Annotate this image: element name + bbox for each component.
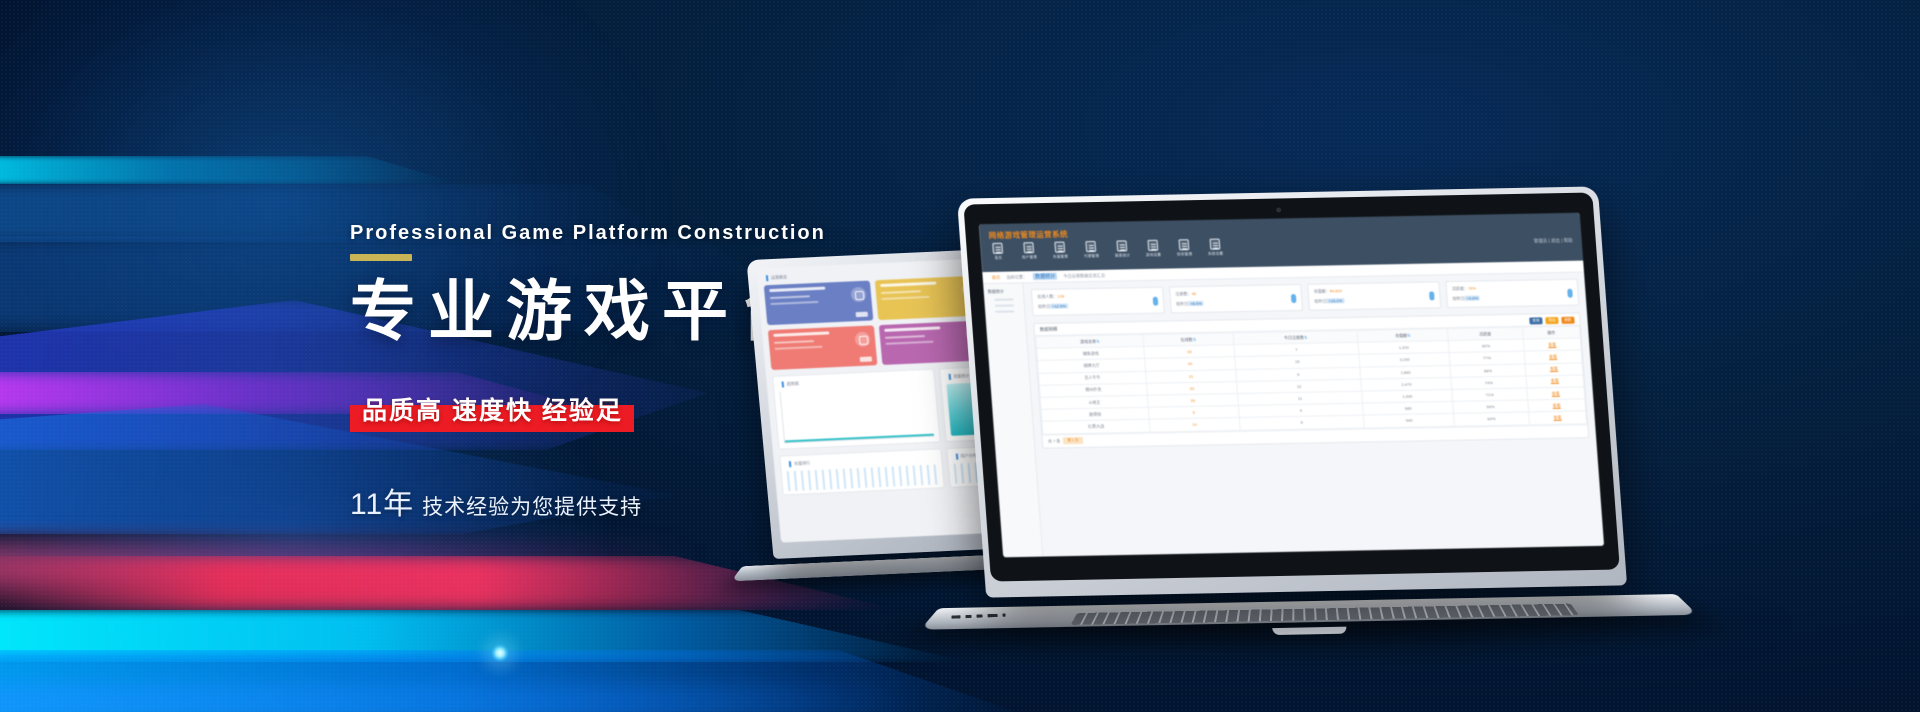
table-cell: 940	[1364, 414, 1455, 428]
front-laptop: 网络游戏管理运营系统 管理员 | 退出 | 帮助 首页	[957, 186, 1627, 597]
stat-title: 注册数：46	[1175, 289, 1296, 297]
card-line-sub	[774, 340, 814, 344]
row-action-link[interactable]: 查看	[1525, 363, 1583, 376]
row-action-link[interactable]: 查看	[1523, 338, 1581, 351]
chart-icon	[1153, 297, 1159, 306]
wallet-icon	[1054, 242, 1065, 253]
stat-title: 充值额：¥9,820	[1313, 286, 1434, 294]
port-card-reader	[951, 615, 960, 619]
card-line-title	[769, 287, 825, 293]
back-chart-panel: 充值排行	[779, 448, 944, 495]
stat-title: 活跃度：76%	[1452, 284, 1573, 292]
gear-icon	[1210, 239, 1221, 250]
export-button[interactable]: 导出	[1545, 316, 1559, 323]
bar-chart	[787, 465, 938, 492]
stat-card-registrations[interactable]: 注册数：46 较昨日+8.0%	[1169, 284, 1303, 313]
breadcrumb-note: 当前位置：	[1006, 274, 1027, 280]
finance-icon	[1179, 239, 1190, 250]
refresh-button[interactable]: 刷新	[1561, 316, 1575, 323]
hero-banner: Professional Game Platform Construction …	[0, 0, 1920, 712]
stat-value: 较昨日+15.2%	[1314, 296, 1435, 304]
menu-item-system[interactable]: 系统设置	[1206, 239, 1225, 257]
front-laptop-bezel: 网络游戏管理运营系统 管理员 | 退出 | 帮助 首页	[963, 192, 1619, 581]
spark-dot	[492, 645, 508, 661]
tagline-years: 11年	[350, 488, 414, 521]
gold-underline-rule	[350, 254, 412, 261]
light-streak-blue-bottom-2	[0, 684, 920, 712]
menu-item-home[interactable]: 首页	[988, 243, 1007, 261]
stat-card-activity[interactable]: 活跃度：76% 较昨日+3.6%	[1445, 279, 1579, 308]
stat-value: 较昨日+3.6%	[1452, 294, 1573, 302]
feature-badge: 品质高 速度快 经验足	[350, 391, 634, 437]
stat-card-row: 在线人数：128 较昨日+12.5% 注册数：46 较昨日+8.0%	[1031, 279, 1580, 316]
card-line-title	[884, 326, 940, 332]
card-line-sub2	[881, 296, 929, 300]
card-value-block	[860, 356, 872, 362]
sidebar-item-players[interactable]	[995, 310, 1014, 312]
table-body: 捕鱼游戏1871,22082%查看棋牌大厅42153,15077%查看百人牛牛2…	[1037, 338, 1587, 434]
front-laptop-screen: 网络游戏管理运营系统 管理员 | 退出 | 帮助 首页	[979, 213, 1604, 558]
data-table: 游戏名称⇅ 在线数⇅ 今日注册数⇅ 充值额⇅ 活跃度 操作	[1035, 326, 1587, 435]
pagination-count: 共 7 条	[1048, 438, 1061, 444]
front-laptop-notch	[1272, 627, 1347, 635]
back-stat-card[interactable]	[768, 325, 878, 370]
breadcrumb-highlight: 数据统计	[1033, 273, 1058, 280]
chart-icon	[1429, 291, 1435, 300]
port-hdmi	[987, 614, 997, 618]
back-stat-card[interactable]	[764, 281, 874, 326]
back-chart-panel: 趋势图	[772, 369, 940, 450]
laptop-group: 运营概览	[760, 230, 1920, 650]
port-audio	[1002, 613, 1005, 616]
menu-item-reports[interactable]: 报表统计	[1112, 240, 1131, 258]
row-action-link[interactable]: 查看	[1528, 399, 1586, 412]
link-icon	[854, 332, 870, 348]
menu-item-finance[interactable]: 财务管理	[1175, 239, 1194, 257]
menu-item-agent[interactable]: 代理管理	[1081, 241, 1100, 259]
card-line-sub2	[885, 341, 933, 345]
app-content: 在线人数：128 较昨日+12.5% 注册数：46 较昨日+8.0%	[1023, 273, 1604, 557]
card-line-sub2	[770, 301, 818, 305]
badge-label: 品质高 速度快 经验足	[362, 391, 634, 427]
card-line-sub2	[774, 346, 822, 350]
agent-icon	[1085, 241, 1096, 252]
webcam-icon	[1276, 207, 1281, 212]
breadcrumb-home[interactable]: 首页	[992, 274, 1001, 280]
card-value-block	[856, 312, 868, 318]
app-menu: 首页 用户管理 充值管理	[988, 239, 1225, 261]
card-line-title	[880, 282, 936, 288]
game-icon	[1147, 240, 1158, 251]
query-button[interactable]: 查询	[1529, 317, 1543, 324]
tagline-text: 技术经验为您提供支持	[422, 496, 642, 519]
sidebar-title: 数据统计	[988, 288, 1019, 295]
line-chart	[779, 385, 933, 444]
user-icon	[850, 287, 866, 303]
data-table-panel: 数据明细 查询 导出 刷新	[1033, 313, 1589, 449]
menu-label: 报表统计	[1113, 253, 1131, 258]
row-action-link[interactable]: 查看	[1524, 350, 1582, 363]
stat-value: 较昨日+8.0%	[1176, 299, 1297, 307]
menu-item-game-settings[interactable]: 游戏设置	[1143, 240, 1162, 258]
card-line-sub	[885, 335, 925, 339]
chart-icon	[1567, 289, 1573, 298]
row-action-link[interactable]: 查看	[1527, 387, 1585, 400]
stat-value: 较昨日+12.5%	[1038, 302, 1159, 310]
table-cell: 64%	[1454, 412, 1530, 426]
menu-label: 财务管理	[1175, 252, 1193, 257]
port-usb	[976, 614, 982, 617]
menu-label: 用户管理	[1020, 255, 1038, 260]
card-line-sub	[770, 295, 810, 299]
sidebar-item-today[interactable]	[995, 298, 1014, 300]
breadcrumb-rest: 今日运营数据总览汇总	[1063, 272, 1105, 279]
home-icon	[992, 243, 1003, 254]
menu-label: 首页	[989, 256, 1007, 261]
pagination-page[interactable]: 第 1 页	[1063, 437, 1083, 444]
sidebar-item-history[interactable]	[995, 304, 1014, 306]
port-usb	[965, 615, 971, 618]
menu-label: 游戏设置	[1144, 253, 1162, 258]
panel-button-group: 查询 导出 刷新	[1529, 316, 1575, 324]
stat-card-recharge[interactable]: 充值额：¥9,820 较昨日+15.2%	[1307, 281, 1441, 310]
row-action-link[interactable]: 查看	[1526, 375, 1584, 388]
menu-label: 充值管理	[1051, 254, 1069, 259]
users-icon	[1023, 242, 1034, 253]
menu-item-users[interactable]: 用户管理	[1019, 242, 1038, 260]
menu-label: 系统设置	[1207, 251, 1225, 256]
stat-title: 在线人数：128	[1037, 292, 1158, 300]
table-cell: 14	[1149, 418, 1240, 432]
app-user-info[interactable]: 管理员 | 退出 | 帮助	[1534, 238, 1573, 245]
col-actions: 操作	[1522, 326, 1580, 339]
card-line-sub	[881, 290, 921, 294]
app-body: 数据统计 在线人数：128 较昨日+12.5%	[983, 273, 1604, 558]
app-logo: 网络游戏管理运营系统	[988, 229, 1068, 241]
menu-label: 代理管理	[1082, 254, 1100, 259]
chart-icon	[1116, 240, 1127, 251]
front-laptop-lid: 网络游戏管理运营系统 管理员 | 退出 | 帮助 首页	[957, 186, 1627, 597]
menu-item-recharge[interactable]: 充值管理	[1050, 241, 1069, 259]
stat-card-online[interactable]: 在线人数：128 较昨日+12.5%	[1031, 287, 1165, 316]
admin-app: 网络游戏管理运营系统 管理员 | 退出 | 帮助 首页	[979, 213, 1604, 558]
row-action-link[interactable]: 查看	[1528, 411, 1586, 424]
chart-icon	[1291, 294, 1297, 303]
panel-title: 数据明细	[1040, 326, 1058, 332]
card-line-title	[773, 331, 829, 337]
